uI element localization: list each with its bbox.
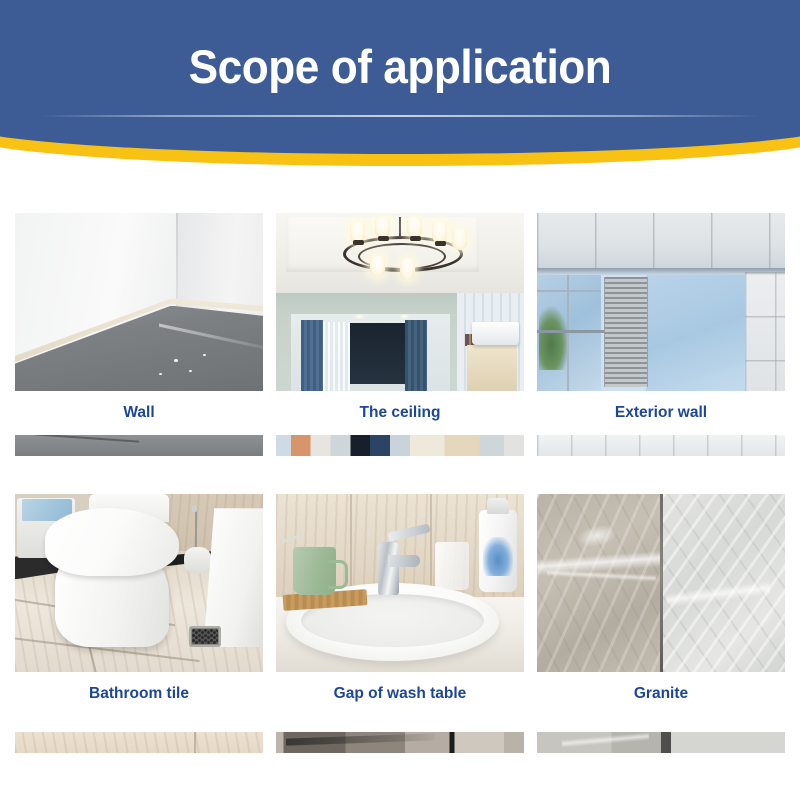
grid-item-bathroom-tile[interactable]: Bathroom tile bbox=[15, 494, 263, 753]
caption-wash-table: Gap of wash table bbox=[276, 672, 524, 716]
strip-spacer bbox=[537, 716, 785, 732]
photo-granite bbox=[537, 494, 785, 672]
title-divider-line bbox=[40, 115, 760, 117]
grid-row: Bathroom tile bbox=[15, 494, 785, 753]
photo-strip-ceiling-next bbox=[276, 435, 524, 456]
caption-bathroom-tile: Bathroom tile bbox=[15, 672, 263, 716]
grid-item-exterior-wall[interactable]: Exterior wall bbox=[537, 213, 785, 456]
caption-wall: Wall bbox=[15, 391, 263, 435]
page-header-banner: Scope of application bbox=[0, 0, 800, 170]
row-spacer bbox=[15, 456, 785, 494]
strip-spacer bbox=[15, 716, 263, 732]
caption-granite: Granite bbox=[537, 672, 785, 716]
grid-item-wall[interactable]: Wall bbox=[15, 213, 263, 456]
photo-strip-granite-next bbox=[537, 732, 785, 753]
photo-strip-wash-table-next bbox=[276, 732, 524, 753]
strip-spacer bbox=[276, 716, 524, 732]
grid-item-granite[interactable]: Granite bbox=[537, 494, 785, 753]
grid-row: Wall bbox=[15, 213, 785, 456]
application-scope-grid: Wall bbox=[15, 213, 785, 753]
photo-strip-wall-next bbox=[15, 435, 263, 456]
photo-bathroom-tile bbox=[15, 494, 263, 672]
photo-wash-table bbox=[276, 494, 524, 672]
photo-ceiling bbox=[276, 213, 524, 391]
photo-wall bbox=[15, 213, 263, 391]
caption-ceiling: The ceiling bbox=[276, 391, 524, 435]
grid-item-wash-table[interactable]: Gap of wash table bbox=[276, 494, 524, 753]
caption-exterior-wall: Exterior wall bbox=[537, 391, 785, 435]
photo-strip-bathroom-next bbox=[15, 732, 263, 753]
page-title: Scope of application bbox=[24, 38, 776, 96]
grid-item-ceiling[interactable]: The ceiling bbox=[276, 213, 524, 456]
photo-exterior-wall bbox=[537, 213, 785, 391]
photo-strip-exterior-next bbox=[537, 435, 785, 456]
